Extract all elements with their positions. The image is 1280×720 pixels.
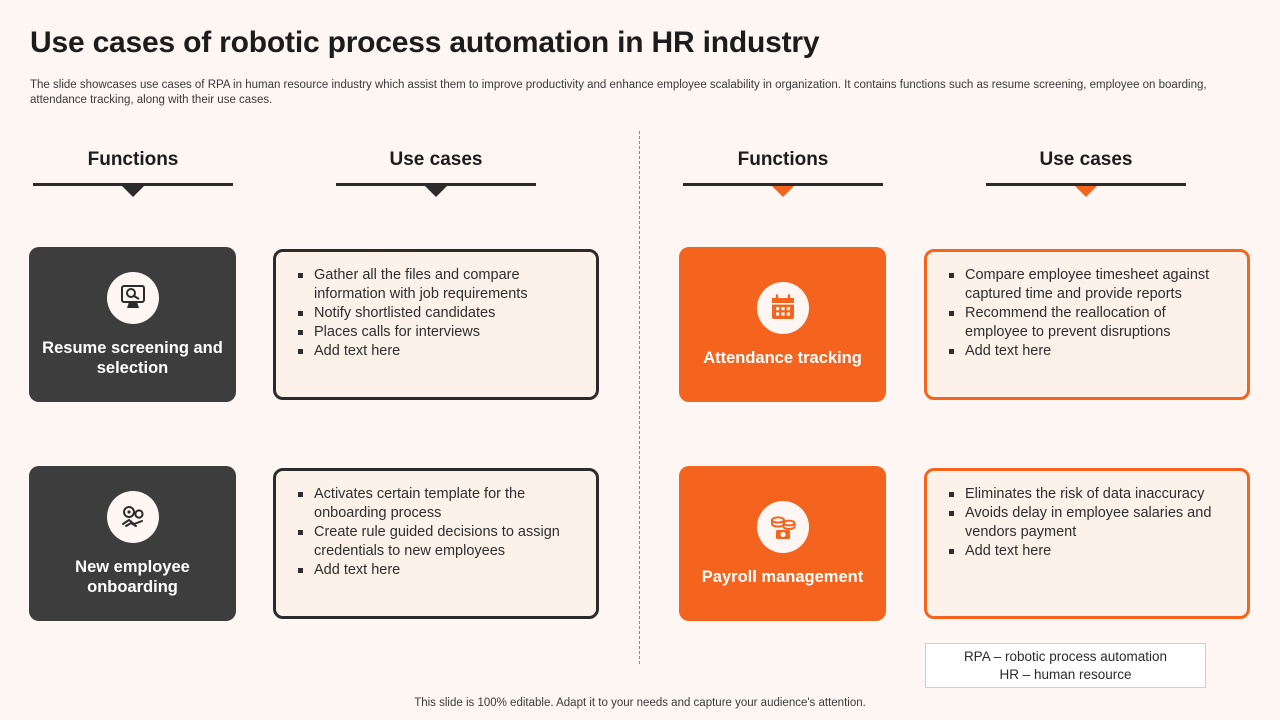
- page-subtitle: The slide showcases use cases of RPA in …: [30, 78, 1215, 108]
- column-header-label: Use cases: [986, 149, 1186, 171]
- decorative-corner-arc: [1208, 0, 1280, 76]
- caret-down-icon: [122, 186, 144, 197]
- function-card-attendance-tracking[interactable]: Attendance tracking: [679, 247, 886, 402]
- legend-line-hr: HR – human resource: [999, 666, 1131, 684]
- function-card-resume-screening[interactable]: Resume screening and selection: [29, 247, 236, 402]
- list-item: Compare employee timesheet against captu…: [945, 266, 1231, 304]
- list-item: Add text here: [294, 561, 580, 580]
- gear-handshake-icon: [107, 491, 159, 543]
- list-item: Notify shortlisted candidates: [294, 304, 580, 323]
- column-header-usecases-right: Use cases: [986, 149, 1186, 197]
- usecase-card-attendance-tracking: Compare employee timesheet against captu…: [924, 249, 1250, 400]
- list-item: Avoids delay in employee salaries and ve…: [945, 504, 1231, 542]
- footer-note: This slide is 100% editable. Adapt it to…: [0, 697, 1280, 709]
- usecase-list: Eliminates the risk of data inaccuracy A…: [945, 485, 1231, 561]
- list-item: Eliminates the risk of data inaccuracy: [945, 485, 1231, 504]
- usecase-list: Activates certain template for the onboa…: [294, 485, 580, 580]
- list-item: Add text here: [945, 342, 1231, 361]
- usecase-list: Gather all the files and compare informa…: [294, 266, 580, 361]
- list-item: Gather all the files and compare informa…: [294, 266, 580, 304]
- monitor-search-icon: [107, 272, 159, 324]
- function-label: New employee onboarding: [29, 557, 236, 597]
- function-card-payroll-management[interactable]: Payroll management: [679, 466, 886, 621]
- caret-down-icon: [1075, 186, 1097, 197]
- list-item: Activates certain template for the onboa…: [294, 485, 580, 523]
- legend-line-rpa: RPA – robotic process automation: [964, 648, 1167, 666]
- page-title: Use cases of robotic process automation …: [30, 26, 819, 60]
- function-card-new-employee-onboarding[interactable]: New employee onboarding: [29, 466, 236, 621]
- usecase-card-resume-screening: Gather all the files and compare informa…: [273, 249, 599, 400]
- column-header-functions-left: Functions: [33, 149, 233, 197]
- column-header-functions-right: Functions: [683, 149, 883, 197]
- function-label: Attendance tracking: [703, 348, 862, 368]
- function-label: Payroll management: [702, 567, 863, 587]
- caret-down-icon: [772, 186, 794, 197]
- list-item: Add text here: [945, 542, 1231, 561]
- column-header-label: Functions: [33, 149, 233, 171]
- calendar-icon: [757, 282, 809, 334]
- usecase-list: Compare employee timesheet against captu…: [945, 266, 1231, 361]
- column-header-usecases-left: Use cases: [336, 149, 536, 197]
- usecase-card-new-employee-onboarding: Activates certain template for the onboa…: [273, 468, 599, 619]
- function-label: Resume screening and selection: [29, 338, 236, 378]
- list-item: Create rule guided decisions to assign c…: [294, 523, 580, 561]
- list-item: Recommend the reallocation of employee t…: [945, 304, 1231, 342]
- column-header-label: Use cases: [336, 149, 536, 171]
- usecase-card-payroll-management: Eliminates the risk of data inaccuracy A…: [924, 468, 1250, 619]
- coins-money-icon: [757, 501, 809, 553]
- list-item: Places calls for interviews: [294, 323, 580, 342]
- list-item: Add text here: [294, 342, 580, 361]
- caret-down-icon: [425, 186, 447, 197]
- legend-box: RPA – robotic process automation HR – hu…: [925, 643, 1206, 688]
- vertical-divider: [639, 131, 640, 664]
- column-header-label: Functions: [683, 149, 883, 171]
